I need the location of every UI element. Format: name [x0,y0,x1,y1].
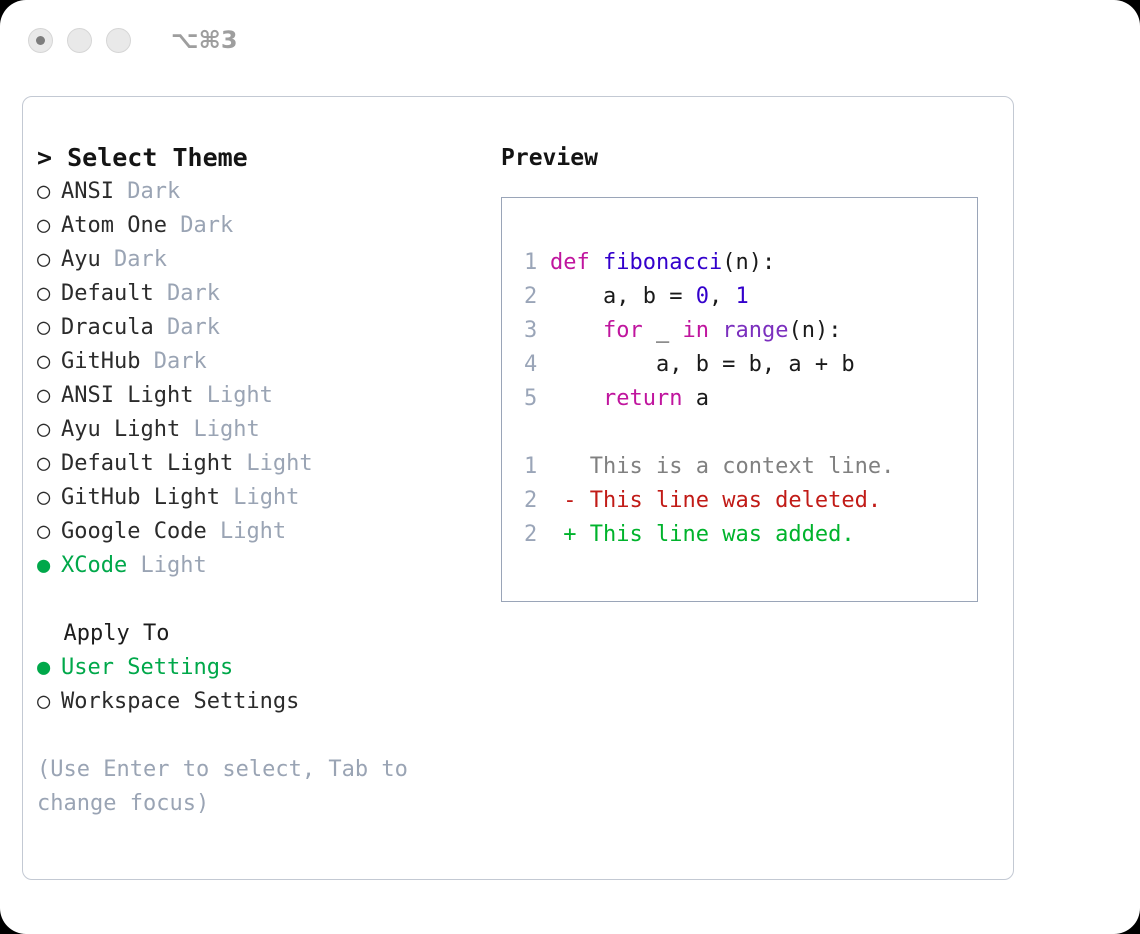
apply-to-label: Workspace Settings [61,689,299,714]
theme-variant-tag: Light [180,417,259,442]
code-token-num: 1 [735,284,748,309]
radio-unselected-icon: ○ [37,243,61,277]
theme-row-dracula[interactable]: ○Dracula Dark [37,311,477,345]
code-diff-gap [524,416,977,450]
window-dot-2[interactable] [67,28,92,53]
theme-name: ANSI Light [61,383,193,408]
select-theme-header: > Select Theme [37,141,477,175]
line-number: 2 [524,484,550,518]
code-token-pln: a, b = [550,284,696,309]
code-token-pln: , [709,284,736,309]
preview-column: Preview 1def fibonacci(n):2 a, b = 0, 13… [501,141,1001,602]
line-number: 4 [524,348,550,382]
apply-to-row-workspace-settings[interactable]: ○Workspace Settings [37,685,477,719]
theme-name: Ayu Light [61,417,180,442]
window-controls [28,28,131,53]
theme-name: Atom One [61,213,167,238]
app-window: ⌥⌘3 > Select Theme ○ANSI Dark○Atom One D… [0,0,1140,934]
theme-variant-tag: Dark [154,281,220,306]
keyboard-hint-text: (Use Enter to select, Tab to change focu… [37,753,437,821]
code-line: 2 a, b = 0, 1 [524,280,977,314]
theme-row-github[interactable]: ○GitHub Dark [37,345,477,379]
code-token-fn: fibonacci [603,250,722,275]
line-number: 1 [524,450,550,484]
theme-name: XCode [61,553,127,578]
theme-name: Dracula [61,315,154,340]
window-dot-active-inner [36,36,45,45]
code-token-pln [709,318,722,343]
theme-variant-tag: Light [220,485,299,510]
radio-unselected-icon: ○ [37,209,61,243]
code-token-num: 0 [696,284,709,309]
code-line: 3 for _ in range(n): [524,314,977,348]
theme-variant-tag: Dark [114,179,180,204]
theme-variant-tag: Dark [167,213,233,238]
line-number: 3 [524,314,550,348]
code-token-call: range [722,318,788,343]
theme-name: Ayu [61,247,101,272]
apply-to-row-user-settings[interactable]: ●User Settings [37,651,477,685]
diff-text: This is a context line. [590,454,895,479]
diff-text: This line was added. [590,522,855,547]
radio-unselected-icon: ○ [37,413,61,447]
preview-title: Preview [501,141,1001,175]
code-line: 5 return a [524,382,977,416]
diff-marker: + [550,522,590,547]
theme-variant-tag: Dark [140,349,206,374]
window-dot-3[interactable] [106,28,131,53]
preview-box: 1def fibonacci(n):2 a, b = 0, 13 for _ i… [501,197,978,602]
title-bar: ⌥⌘3 [0,0,1140,80]
theme-variant-tag: Light [193,383,272,408]
code-token-pln [590,250,603,275]
radio-unselected-icon: ○ [37,447,61,481]
apply-to-header: Apply To [37,617,477,651]
theme-row-default[interactable]: ○Default Dark [37,277,477,311]
code-line: 1def fibonacci(n): [524,246,977,280]
theme-name: Default [61,281,154,306]
radio-unselected-icon: ○ [37,345,61,379]
theme-list: ○ANSI Dark○Atom One Dark○Ayu Dark○Defaul… [37,175,477,583]
code-token-pln: a, b = b, a + b [550,352,855,377]
theme-variant-tag: Light [207,519,286,544]
radio-unselected-icon: ○ [37,277,61,311]
theme-selector-column: > Select Theme ○ANSI Dark○Atom One Dark○… [37,141,477,821]
code-token-kw: return [603,386,682,411]
code-sample: 1def fibonacci(n):2 a, b = 0, 13 for _ i… [524,246,977,416]
radio-selected-icon: ● [37,651,61,685]
theme-row-ansi-light[interactable]: ○ANSI Light Light [37,379,477,413]
theme-row-ayu[interactable]: ○Ayu Dark [37,243,477,277]
main-panel: > Select Theme ○ANSI Dark○Atom One Dark○… [22,96,1014,880]
theme-name: ANSI [61,179,114,204]
radio-unselected-icon: ○ [37,311,61,345]
theme-name: GitHub Light [61,485,220,510]
radio-unselected-icon: ○ [37,379,61,413]
radio-unselected-icon: ○ [37,175,61,209]
theme-row-xcode[interactable]: ●XCode Light [37,549,477,583]
code-token-pln: _ [643,318,683,343]
theme-variant-tag: Light [127,553,206,578]
list-spacer [37,583,477,617]
code-token-pln: (n): [788,318,841,343]
line-number: 2 [524,280,550,314]
radio-unselected-icon: ○ [37,515,61,549]
code-token-pln: a [682,386,709,411]
code-token-kw: for [603,318,643,343]
code-token-pln [550,386,603,411]
radio-selected-icon: ● [37,549,61,583]
diff-marker [550,454,590,479]
theme-row-ansi[interactable]: ○ANSI Dark [37,175,477,209]
line-number: 5 [524,382,550,416]
diff-text: This line was deleted. [590,488,881,513]
theme-variant-tag: Light [233,451,312,476]
line-number: 1 [524,246,550,280]
code-token-kw: in [682,318,709,343]
keyboard-shortcut-label: ⌥⌘3 [171,26,238,54]
line-number: 2 [524,518,550,552]
theme-variant-tag: Dark [101,247,167,272]
code-token-kw: def [550,250,590,275]
radio-unselected-icon: ○ [37,481,61,515]
theme-variant-tag: Dark [154,315,220,340]
diff-marker: - [550,488,590,513]
diff-sample: 1 This is a context line.2 - This line w… [524,450,977,552]
theme-row-google-code[interactable]: ○Google Code Light [37,515,477,549]
diff-line-del: 2 - This line was deleted. [524,484,977,518]
theme-row-ayu-light[interactable]: ○Ayu Light Light [37,413,477,447]
theme-name: Default Light [61,451,233,476]
radio-unselected-icon: ○ [37,685,61,719]
code-token-pln [550,318,603,343]
diff-line-ctx: 1 This is a context line. [524,450,977,484]
code-line: 4 a, b = b, a + b [524,348,977,382]
theme-name: Google Code [61,519,207,544]
theme-name: GitHub [61,349,140,374]
apply-to-label: User Settings [61,655,233,680]
code-token-pln: (n): [722,250,775,275]
diff-line-add: 2 + This line was added. [524,518,977,552]
theme-row-atom-one[interactable]: ○Atom One Dark [37,209,477,243]
window-dot-active[interactable] [28,28,53,53]
theme-row-default-light[interactable]: ○Default Light Light [37,447,477,481]
theme-row-github-light[interactable]: ○GitHub Light Light [37,481,477,515]
apply-to-list: ●User Settings○Workspace Settings [37,651,477,719]
